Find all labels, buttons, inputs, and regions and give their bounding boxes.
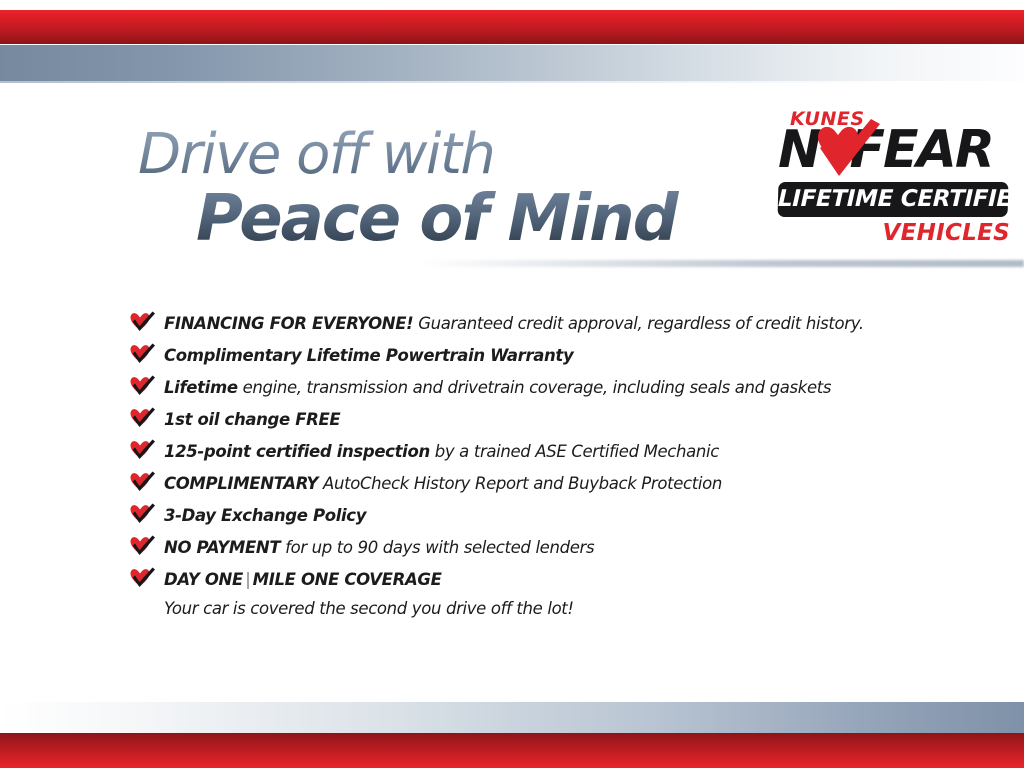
list-item-strong: 1st oil change FREE bbox=[164, 410, 340, 429]
list-item-strong: 3-Day Exchange Policy bbox=[164, 506, 366, 525]
top-band-hairline bbox=[0, 81, 1024, 83]
list-item-strong: 125-point certified inspection bbox=[164, 442, 430, 461]
list-item-rest: Guaranteed credit approval, regardless o… bbox=[413, 314, 863, 333]
list-item-separator: | bbox=[243, 570, 253, 589]
logo-vehicles-text: VEHICLES bbox=[882, 220, 1010, 246]
headline-block: Drive off with Peace of Mind bbox=[138, 126, 758, 252]
heart-check-icon bbox=[130, 343, 156, 365]
heart-check-icon bbox=[130, 375, 156, 397]
list-item-rest: by a trained ASE Certified Mechanic bbox=[430, 442, 719, 461]
list-item: COMPLIMENTARY AutoCheck History Report a… bbox=[130, 468, 990, 500]
headline-line-1: Drive off with bbox=[138, 126, 758, 184]
heart-check-icon bbox=[130, 407, 156, 429]
list-item-text: FINANCING FOR EVERYONE! Guaranteed credi… bbox=[164, 308, 990, 340]
list-item-strong: DAY ONE bbox=[164, 570, 243, 589]
list-item-rest: for up to 90 days with selected lenders bbox=[280, 538, 594, 557]
list-item: DAY ONE|MILE ONE COVERAGE Your car is co… bbox=[130, 564, 990, 622]
list-item-strong: COMPLIMENTARY bbox=[164, 474, 318, 493]
list-item-rest: AutoCheck History Report and Buyback Pro… bbox=[318, 474, 722, 493]
list-item-text: DAY ONE|MILE ONE COVERAGE bbox=[164, 564, 990, 596]
list-item-strong: FINANCING FOR EVERYONE! bbox=[164, 314, 413, 333]
list-item-subline: Your car is covered the second you drive… bbox=[164, 596, 990, 622]
list-item-text: 1st oil change FREE bbox=[164, 404, 990, 436]
list-item-rest: engine, transmission and drivetrain cove… bbox=[238, 378, 831, 397]
promo-poster: Drive off with Peace of Mind KUNES NFEAR… bbox=[0, 0, 1024, 768]
list-item-text: Complimentary Lifetime Powertrain Warran… bbox=[164, 340, 990, 372]
list-item-text: NO PAYMENT for up to 90 days with select… bbox=[164, 532, 990, 564]
list-item-text: COMPLIMENTARY AutoCheck History Report a… bbox=[164, 468, 990, 500]
benefits-list: FINANCING FOR EVERYONE! Guaranteed credi… bbox=[130, 308, 990, 622]
list-item: Lifetime engine, transmission and drivet… bbox=[130, 372, 990, 404]
heart-check-icon bbox=[130, 503, 156, 525]
logo-certified-text: LIFETIME CERTIFIED bbox=[778, 182, 1009, 217]
list-item-strong-2: MILE ONE COVERAGE bbox=[253, 570, 442, 589]
kunes-no-fear-logo: KUNES NFEAR LIFETIME CERTIFIED VEHICLES bbox=[776, 108, 1014, 248]
list-item: 125-point certified inspection by a trai… bbox=[130, 436, 990, 468]
list-item: FINANCING FOR EVERYONE! Guaranteed credi… bbox=[130, 308, 990, 340]
top-red-band bbox=[0, 10, 1024, 44]
heart-check-icon bbox=[130, 311, 156, 333]
list-item-text: Lifetime engine, transmission and drivet… bbox=[164, 372, 990, 404]
logo-certified-bar: LIFETIME CERTIFIED bbox=[778, 182, 1009, 217]
list-item: 1st oil change FREE bbox=[130, 404, 990, 436]
list-item-text: 125-point certified inspection by a trai… bbox=[164, 436, 990, 468]
headline-line-2: Peace of Mind bbox=[196, 186, 758, 252]
list-item: NO PAYMENT for up to 90 days with select… bbox=[130, 532, 990, 564]
headline-divider bbox=[420, 260, 1024, 267]
list-item-strong: NO PAYMENT bbox=[164, 538, 280, 557]
list-item: 3-Day Exchange Policy bbox=[130, 500, 990, 532]
bottom-gray-band bbox=[0, 702, 1024, 733]
list-item: Complimentary Lifetime Powertrain Warran… bbox=[130, 340, 990, 372]
list-item-strong: Lifetime bbox=[164, 378, 238, 397]
heart-check-icon bbox=[130, 535, 156, 557]
list-item-strong: Complimentary Lifetime Powertrain Warran… bbox=[164, 346, 573, 365]
top-gray-band bbox=[0, 45, 1024, 81]
heart-check-icon bbox=[130, 439, 156, 461]
heart-check-icon bbox=[130, 567, 156, 589]
bottom-red-band bbox=[0, 733, 1024, 768]
heart-check-icon bbox=[130, 471, 156, 493]
list-item-text: 3-Day Exchange Policy bbox=[164, 500, 990, 532]
